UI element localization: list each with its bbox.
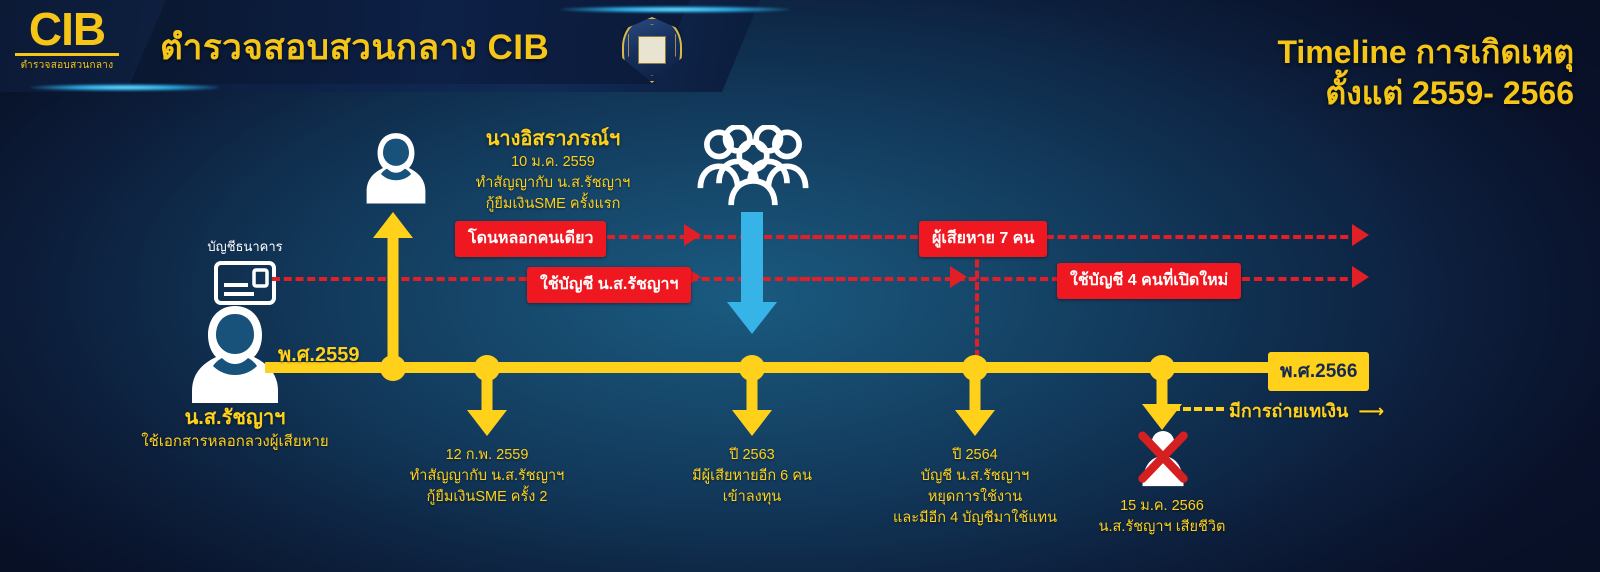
event-2559-feb: 12 ก.พ. 2559 ทำสัญญากับ น.ส.รัชญาฯ กู้ยื…: [410, 445, 565, 508]
deceased-person-icon: [1135, 428, 1191, 490]
victim-name: นางอิสราภรณ์ฯ: [438, 126, 668, 152]
deceased-figure: [1135, 428, 1191, 490]
event-line: ทำสัญญากับ น.ส.รัชญาฯ: [410, 466, 565, 487]
flow-arrow-2d: [1352, 266, 1369, 288]
timeline-node-1[interactable]: [380, 355, 406, 381]
event-line: เข้าลงทุน: [692, 487, 812, 508]
timeline-node-2[interactable]: [474, 355, 500, 381]
woman-icon: [175, 300, 295, 405]
victim-caption: นางอิสราภรณ์ฯ 10 ม.ค. 2559 ทำสัญญากับ น.…: [438, 126, 668, 215]
event-line: มีผู้เสียหายอีก 6 คน: [692, 466, 812, 487]
police-badge-icon: [622, 17, 678, 79]
flow-vertical-connector: [975, 248, 979, 358]
victim-line1: 10 ม.ค. 2559: [438, 152, 668, 173]
event-line: 15 ม.ค. 2566: [1099, 496, 1226, 517]
page-title: Timeline การเกิดเหตุ ตั้งแต่ 2559- 2566: [1277, 32, 1574, 114]
event-line: ปี 2563: [692, 445, 812, 466]
event-line: บัญชี น.ส.รัชญาฯ: [893, 466, 1057, 487]
flow-label-four-new-accounts: ใช้บัญชี 4 คนที่เปิดใหม่: [1057, 263, 1241, 299]
event-2563: ปี 2563 มีผู้เสียหายอีก 6 คน เข้าลงทุน: [692, 445, 812, 508]
flow-line-2c: [790, 277, 1060, 281]
event-line: น.ส.รัชญาฯ เสียชีวิต: [1099, 517, 1226, 538]
timeline-axis: [265, 362, 1290, 373]
timeline-year-end: พ.ศ.2566: [1268, 352, 1369, 391]
bank-account-label: บัญชีธนาคาร: [190, 236, 300, 257]
suspect-description: ใช้เอกสารหลอกลวงผู้เสียหาย: [95, 431, 375, 453]
flow-label-victims-seven: ผู้เสียหาย 7 คน: [919, 221, 1047, 257]
cib-logo: CIB ตำรวจสอบสวนกลาง: [8, 6, 126, 84]
flow-arrow-1c: [1352, 224, 1369, 246]
timeline-node-4[interactable]: [962, 355, 988, 381]
header-glow-left: [30, 84, 220, 91]
victim-line2: ทำสัญญากับ น.ส.รัชญาฯ: [438, 173, 668, 194]
header-glow-right: [560, 6, 790, 13]
page-title-line1: Timeline การเกิดเหตุ: [1277, 32, 1574, 73]
money-note-label: มีการถ่ายเทเงิน ⟶: [1229, 396, 1384, 425]
timeline-node-5[interactable]: [1149, 355, 1175, 381]
event-line: กู้ยืมเงินSME ครั้ง 2: [410, 487, 565, 508]
victim-figure: [355, 128, 437, 212]
timeline-year-start: พ.ศ.2559: [278, 338, 359, 370]
arrow-up-victim: [373, 212, 413, 370]
event-line: ปี 2564: [893, 445, 1057, 466]
victim-line3: กู้ยืมเงินSME ครั้งแรก: [438, 194, 668, 215]
page-title-line2: ตั้งแต่ 2559- 2566: [1277, 73, 1574, 114]
event-line: 12 ก.พ. 2559: [410, 445, 565, 466]
event-2566: 15 ม.ค. 2566 น.ส.รัชญาฯ เสียชีวิต: [1099, 496, 1226, 538]
cib-logo-text: CIB: [8, 6, 126, 52]
flow-label-use-account: ใช้บัญชี น.ส.รัชญาฯ: [527, 267, 691, 303]
flow-down-arrow: [727, 212, 777, 334]
cib-logo-subtitle: ตำรวจสอบสวนกลาง: [8, 58, 126, 73]
woman-icon-2: [355, 128, 437, 212]
infographic-canvas: CIB ตำรวจสอบสวนกลาง ตำรวจสอบสวนกลาง CIB …: [0, 0, 1600, 572]
money-note-text: มีการถ่ายเทเงิน: [1229, 401, 1348, 421]
event-line: และมีอีก 4 บัญชีมาใช้แทน: [893, 508, 1057, 529]
event-line: หยุดการใช้งาน: [893, 487, 1057, 508]
flow-arrow-2b: [950, 266, 967, 288]
bank-account-group: บัญชีธนาคาร: [190, 236, 300, 305]
suspect-name: น.ส.รัชญาฯ: [95, 405, 375, 431]
flow-arrow-1a: [684, 224, 701, 246]
flow-line-1c: [1034, 235, 1360, 239]
flow-label-deceived-alone: โดนหลอกคนเดียว: [455, 221, 606, 257]
event-2564: ปี 2564 บัญชี น.ส.รัชญาฯ หยุดการใช้งาน แ…: [893, 445, 1057, 529]
money-note-dash: [1172, 407, 1224, 411]
group-of-people-icon: [692, 125, 814, 210]
suspect-caption: น.ส.รัชญาฯ ใช้เอกสารหลอกลวงผู้เสียหาย: [95, 405, 375, 453]
flow-line-1b: [790, 235, 930, 239]
arrow-right-icon: ⟶: [1353, 401, 1384, 421]
timeline-node-3[interactable]: [739, 355, 765, 381]
header-title: ตำรวจสอบสวนกลาง CIB: [160, 20, 549, 75]
bank-card-icon: [214, 261, 276, 305]
